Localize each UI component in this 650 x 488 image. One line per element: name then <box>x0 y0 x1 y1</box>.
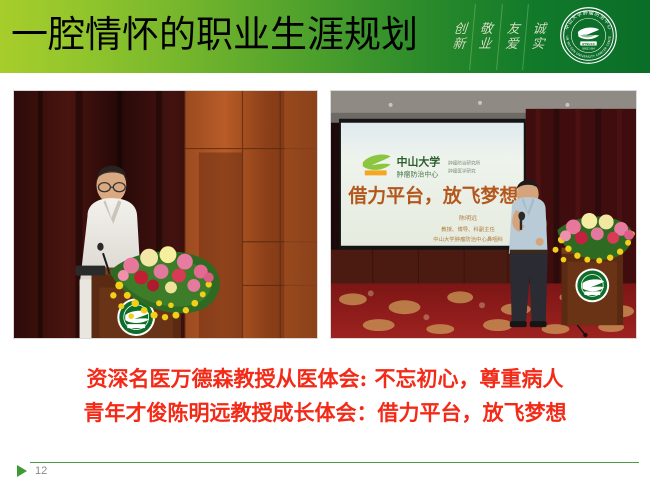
calligraphy-column-chengshi: 诚 实 <box>522 4 554 70</box>
svg-text:中山大学: 中山大学 <box>397 154 441 168</box>
svg-text:教授、博导、科副主任: 教授、博导、科副主任 <box>441 225 495 233</box>
svg-text:SYSUCC: SYSUCC <box>582 42 595 46</box>
page-title: 一腔情怀的职业生涯规划 <box>11 10 418 60</box>
svg-text:肿瘤医学研究: 肿瘤医学研究 <box>448 167 476 174</box>
caption-line-senior-professor: 资深名医万德森教授从医体会: 不忘初心，尊重病人 <box>0 362 650 396</box>
svg-text:肿瘤防治中心: 肿瘤防治中心 <box>397 169 439 178</box>
play-triangle-icon <box>17 465 27 477</box>
svg-text:中山大学肿瘤防治中心鼻咽科: 中山大学肿瘤防治中心鼻咽科 <box>433 235 503 243</box>
university-logo-icon: 中山大学肿瘤防治中心 SUN YAT-SEN UNIVERSITY CANCER… <box>559 6 618 65</box>
svg-text:肿瘤防治研究所: 肿瘤防治研究所 <box>448 159 480 166</box>
calligraphy-char: 创 <box>453 22 467 37</box>
projected-slide-title: 借力平台，放飞梦想 <box>347 184 518 207</box>
calligraphy-char: 诚 <box>532 22 546 37</box>
svg-text:SINCE 1964: SINCE 1964 <box>582 48 595 50</box>
calligraphy-char: 实 <box>531 37 545 52</box>
calligraphy-char: 业 <box>478 37 492 52</box>
footer-divider <box>30 462 639 463</box>
calligraphy-char: 友 <box>506 22 520 37</box>
page-number: 12 <box>35 464 47 478</box>
svg-text:陈明远: 陈明远 <box>459 214 477 222</box>
photo-young-professor-presentation: 中山大学 肿瘤防治中心 肿瘤防治研究所 肿瘤医学研究 借力平台，放飞梦想 陈明远… <box>330 90 637 339</box>
caption-block: 资深名医万德森教授从医体会: 不忘初心，尊重病人 青年才俊陈明远教授成长体会：借… <box>0 362 650 430</box>
calligraphy-char: 敬 <box>479 22 493 37</box>
calligraphy-char: 新 <box>452 37 466 52</box>
calligraphy-char: 爱 <box>504 37 518 52</box>
calligraphy-motto-block: 创 新 敬 业 友 爱 诚 实 <box>447 4 551 70</box>
photo-senior-professor-lecture <box>13 90 318 339</box>
header-banner: 一腔情怀的职业生涯规划 创 新 敬 业 友 爱 诚 实 <box>0 0 650 73</box>
slide-root: 一腔情怀的职业生涯规划 创 新 敬 业 友 爱 诚 实 <box>0 0 650 488</box>
caption-line-young-professor: 青年才俊陈明远教授成长体会：借力平台，放飞梦想 <box>0 396 650 430</box>
